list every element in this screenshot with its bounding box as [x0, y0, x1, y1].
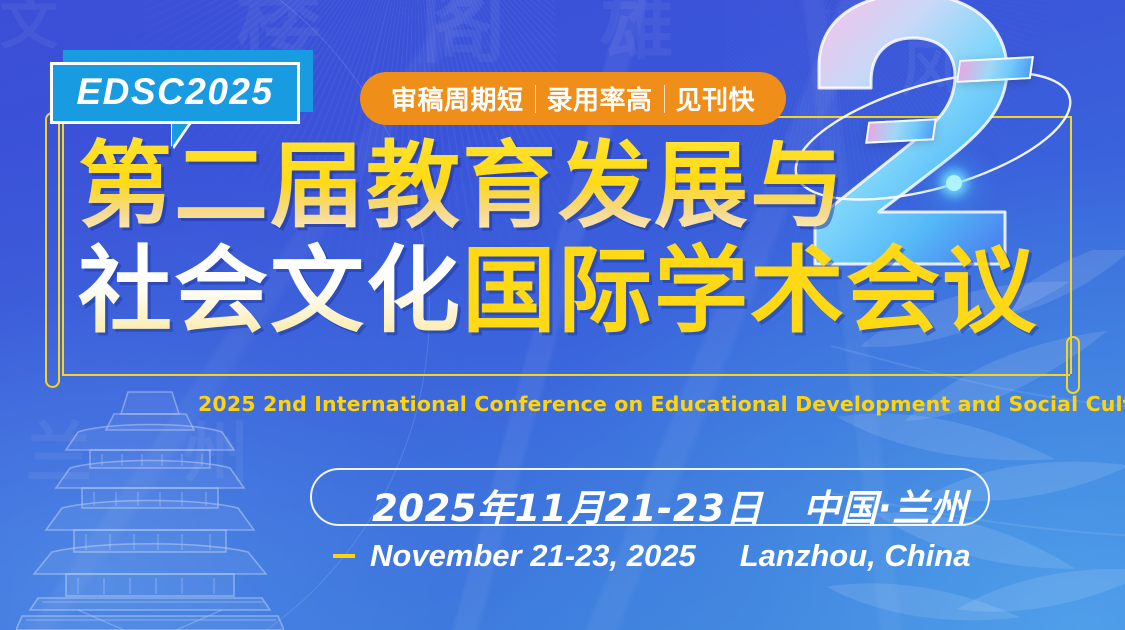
conference-poster: 楼 阁 雄 兰 州 风 文	[0, 0, 1125, 630]
poster-title: 第二届教育发展与 社会文化国际学术会议	[78, 140, 1038, 338]
dash-accent-icon	[333, 554, 355, 558]
bg-glyph-2: 雄	[600, 0, 708, 64]
location-chinese: 中国·兰州	[803, 478, 968, 532]
highlight-item-3: 见刊快	[665, 80, 767, 117]
date-location-english: November 21-23, 2025 Lanzhou, China	[370, 538, 970, 574]
title-line-1-text: 第二届教育发展与	[78, 132, 846, 241]
frame-accent-left	[45, 112, 60, 388]
decor-chip-upper	[956, 56, 1034, 83]
title-line-2-white-text: 社会文化	[78, 237, 462, 346]
date-chinese: 2025年11月21-23日	[372, 478, 763, 532]
bg-glyph-5: 文	[0, 0, 92, 52]
bg-glyph-3: 兰 州	[26, 420, 283, 486]
frame-accent-right	[1066, 336, 1080, 394]
highlight-item-1: 审稿周期短	[380, 80, 535, 117]
highlight-item-2: 录用率高	[536, 80, 664, 117]
conference-code-label: EDSC2025	[76, 71, 273, 113]
title-line-1: 第二届教育发展与	[78, 140, 1038, 233]
highlights-pill: 审稿周期短 录用率高 见刊快	[360, 72, 786, 125]
location-english: Lanzhou, China	[740, 538, 971, 574]
date-location-chinese: 2025年11月21-23日 中国·兰州	[372, 478, 967, 532]
date-english: November 21-23, 2025	[370, 538, 696, 574]
title-line-2-yellow-text: 国际学术会议	[462, 237, 1038, 346]
pagoda-illustration-icon	[16, 388, 284, 630]
edsc-badge-tail-icon	[172, 121, 190, 147]
english-subtitle: 2025 2nd International Conference on Edu…	[198, 392, 1125, 416]
title-line-2: 社会文化国际学术会议	[78, 245, 1038, 338]
conference-code-badge: EDSC2025	[50, 62, 300, 124]
